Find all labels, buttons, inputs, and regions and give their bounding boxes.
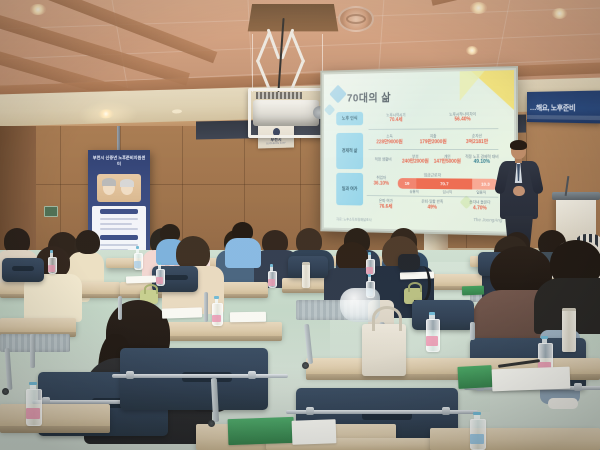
projector-ceiling-recess xyxy=(248,4,339,31)
projector-vents xyxy=(256,92,302,99)
rollup-section-label xyxy=(100,235,138,240)
wall-fixture xyxy=(44,206,58,217)
ceiling-beam xyxy=(430,0,600,6)
rollup-banner-headline: 부천시 신중년 노후준비지원센터 xyxy=(92,155,146,166)
presenter-hair xyxy=(510,140,527,150)
attendee-hair xyxy=(76,230,100,254)
thermos-tumbler xyxy=(562,308,576,352)
water-bottle xyxy=(426,314,438,352)
projection-screen: 70대의 삶 노후 인식 노후시작시기 70.4세 노후시작나이차이 56.40… xyxy=(320,66,518,236)
ceiling-light xyxy=(466,46,478,55)
tote-bag-handle xyxy=(372,306,402,331)
paper-handout xyxy=(292,419,337,445)
pamphlet xyxy=(462,286,484,296)
water-bottle xyxy=(134,248,141,270)
screen-glare xyxy=(324,70,514,232)
presenter-hands xyxy=(513,186,525,196)
emblem-subtext: BUCHEON CITY xyxy=(258,142,294,146)
projector xyxy=(253,100,319,126)
pamphlet xyxy=(457,365,492,389)
soffit-light-small xyxy=(172,109,182,113)
lecture-hall-photo: 부천시 BUCHEON CITY …해요, 노후준비 70대의 삶 노후 인식 xyxy=(0,0,600,450)
desk-modesty-panel xyxy=(0,334,70,352)
wall-banner: …해요, 노후준비 xyxy=(527,90,600,123)
wall-banner-stripe xyxy=(527,115,600,120)
podium-top xyxy=(552,192,600,200)
paper-handout xyxy=(492,367,571,392)
handbag-handle xyxy=(144,284,158,294)
water-bottle xyxy=(366,254,373,275)
water-bottle xyxy=(470,414,484,450)
rollup-section-label xyxy=(100,209,138,214)
backpack-strap xyxy=(414,266,431,303)
water-bottle xyxy=(156,264,163,286)
paper-handout xyxy=(162,307,202,318)
paper-handout xyxy=(126,275,156,283)
thermos-tumbler xyxy=(302,262,310,288)
tote-bag xyxy=(362,324,406,376)
desk xyxy=(430,428,600,450)
mount-wire xyxy=(252,34,253,92)
banner-pole xyxy=(117,126,120,152)
ceiling-light xyxy=(470,2,487,14)
water-bottle xyxy=(212,298,221,326)
water-bottle xyxy=(48,252,55,274)
rollup-banner-illustration xyxy=(97,174,141,202)
ceiling-vent xyxy=(338,6,374,32)
attendee-shoe xyxy=(548,398,578,409)
ceiling-light xyxy=(552,8,567,19)
wall-banner-text: …해요, 노후준비 xyxy=(530,103,576,114)
water-bottle xyxy=(26,384,40,426)
attendee-hair xyxy=(176,236,210,270)
attendee-torso xyxy=(225,238,261,268)
pamphlet xyxy=(228,417,295,445)
paper-handout xyxy=(230,312,266,323)
water-bottle xyxy=(268,266,275,288)
ceiling-light xyxy=(30,4,46,15)
slide-content: 70대의 삶 노후 인식 노후시작시기 70.4세 노후시작나이차이 56.40… xyxy=(324,70,514,232)
